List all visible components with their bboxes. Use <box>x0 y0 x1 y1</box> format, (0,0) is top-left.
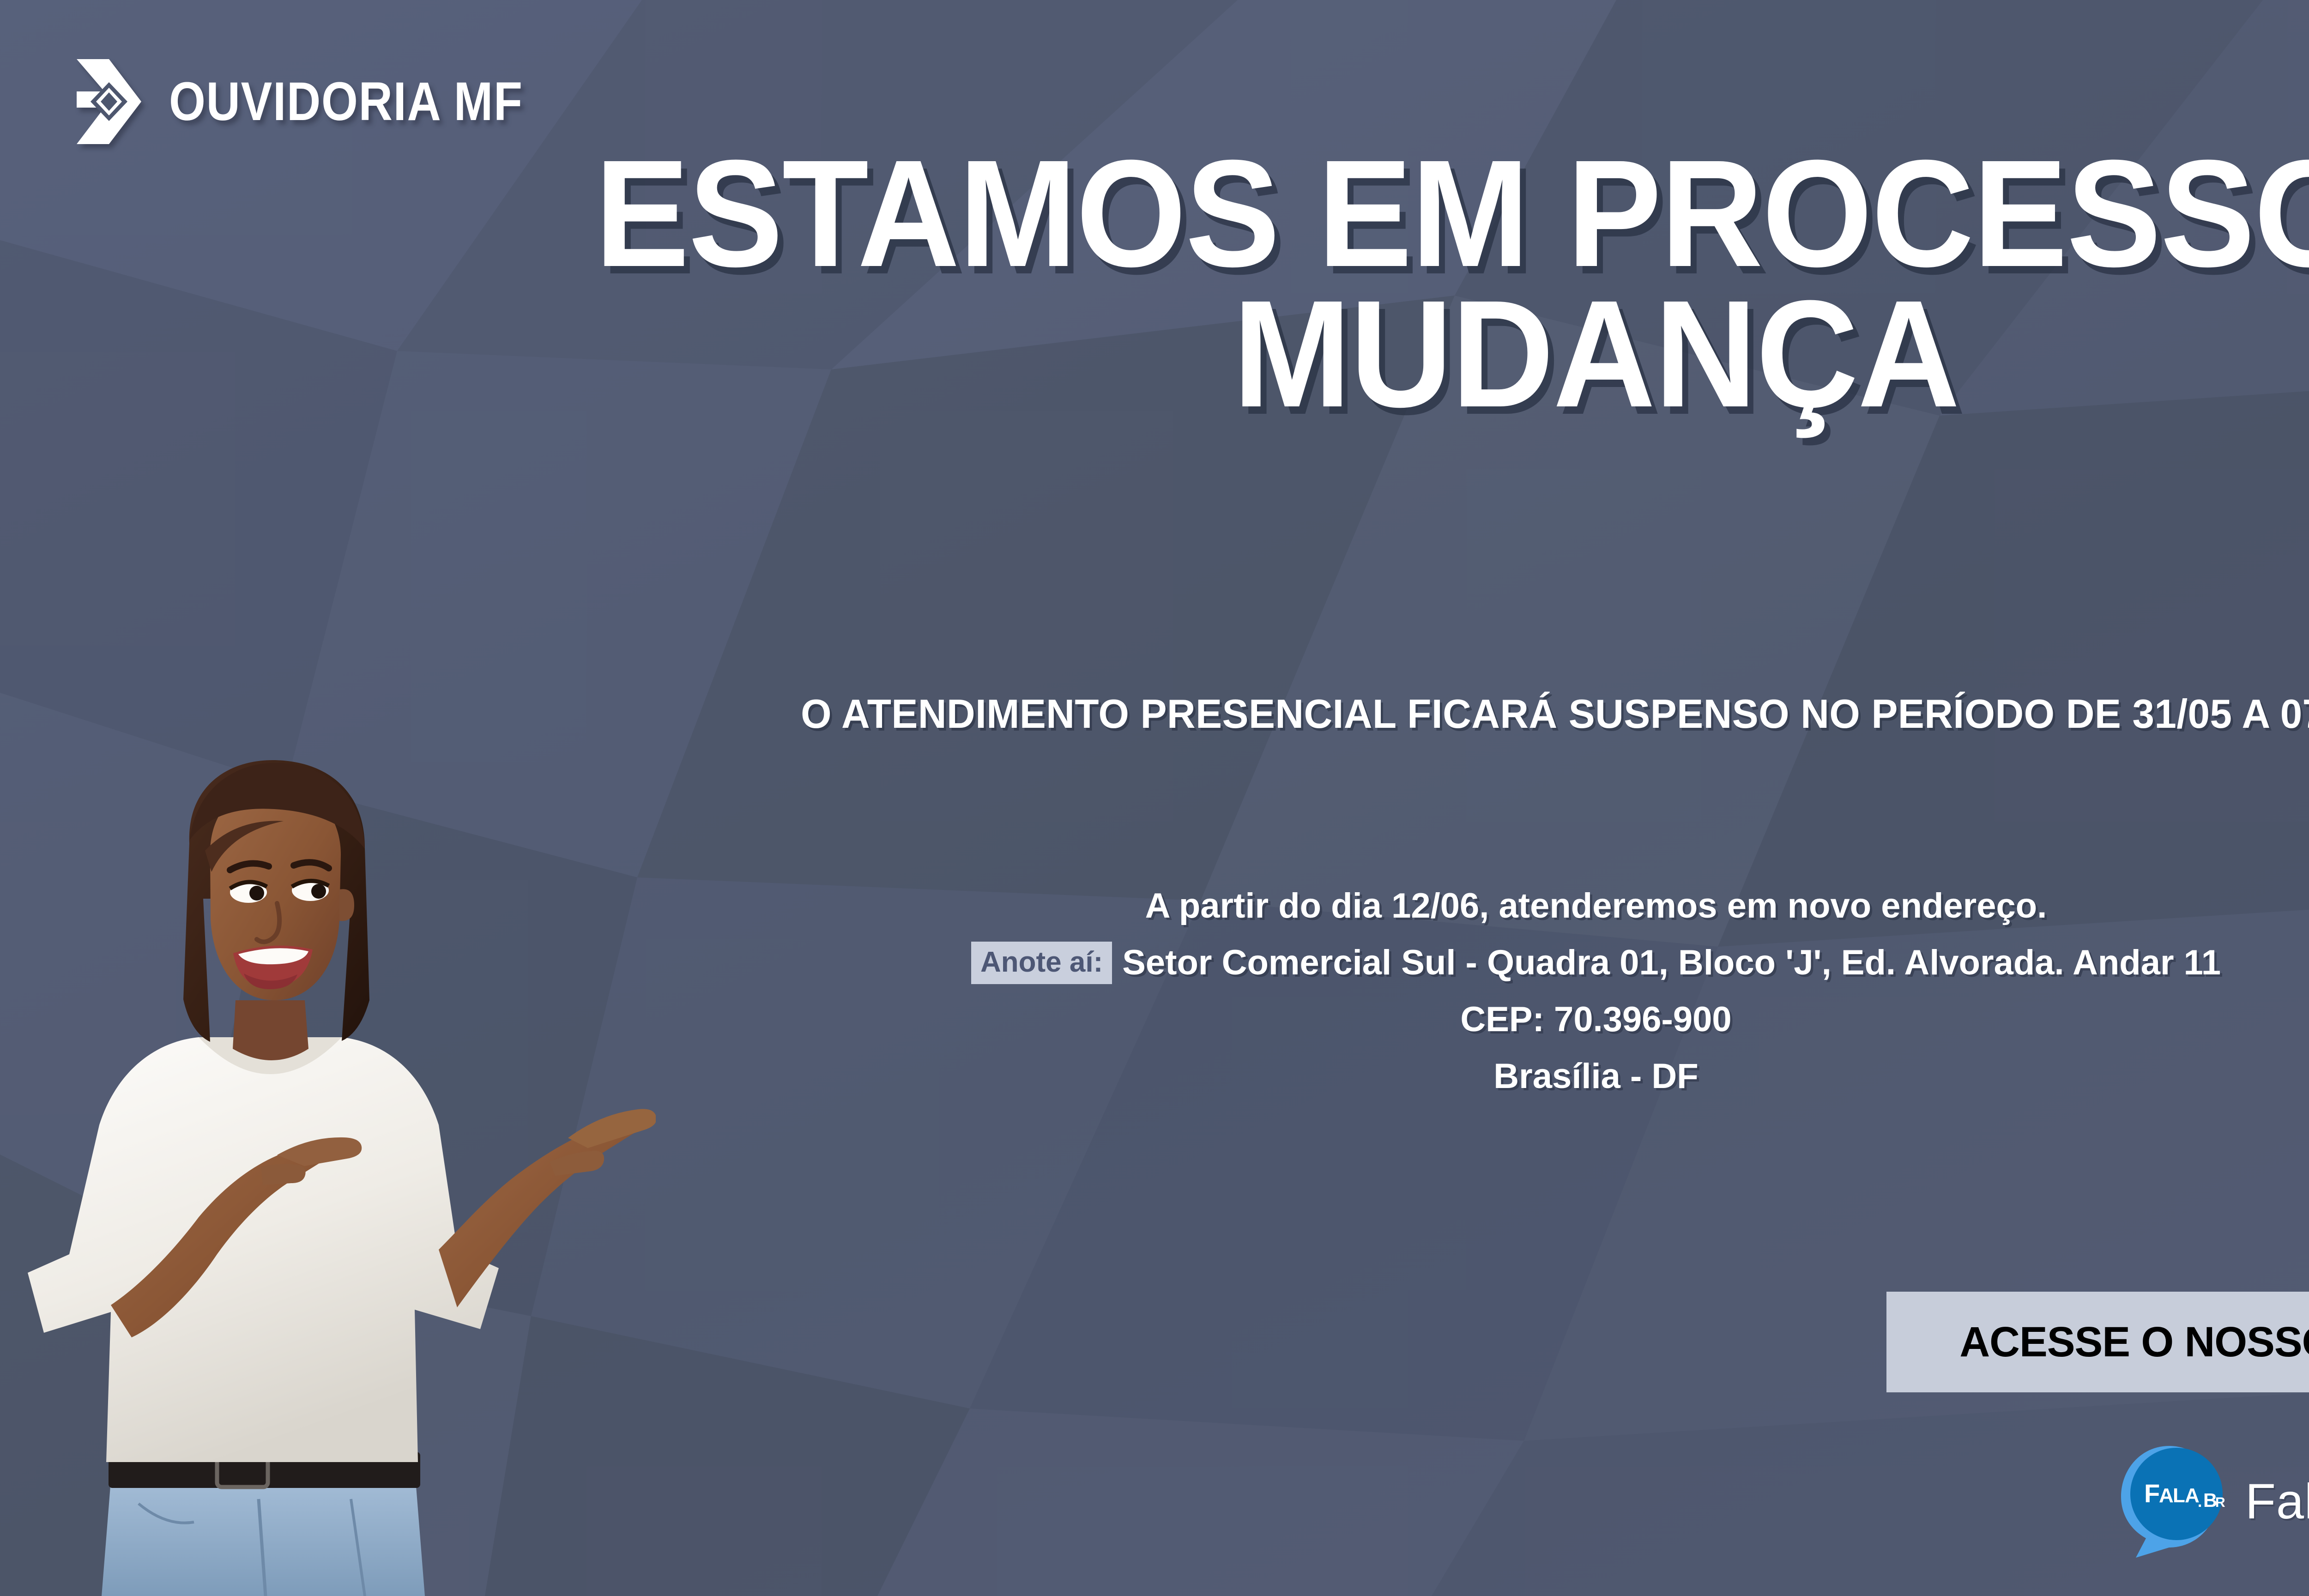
new-address-block: A partir do dia 12/06, atenderemos em no… <box>591 877 2309 1105</box>
page-title: ESTAMOS EM PROCESSO DE MUDANÇA <box>0 143 2309 423</box>
svg-text:A: A <box>2159 1484 2173 1507</box>
ouvidoria-mf-logo: OUVIDORIA MF <box>65 55 580 148</box>
promo-banner: OUVIDORIA MF ESTAMOS EM PROCESSO DE MUDA… <box>0 0 2309 1596</box>
suspension-notice: O ATENDIMENTO PRESENCIAL FICARÁ SUSPENSO… <box>48 690 2309 738</box>
anote-ai-badge: Anote aí: <box>971 942 1112 984</box>
address-intro: A partir do dia 12/06, atenderemos em no… <box>591 877 2309 934</box>
svg-text:R: R <box>2215 1495 2225 1510</box>
channel-cta-label: ACESSE O NOSSO CANAL DE ATENDIMENTO: <box>1886 1318 2309 1366</box>
falabr-url[interactable]: Fala.br – falabr.cgu.gov.br <box>2245 1472 2309 1530</box>
pointing-woman-photo <box>0 760 656 1596</box>
headline-line-1: ESTAMOS EM PROCESSO DE <box>254 143 2309 284</box>
svg-text:A: A <box>2185 1484 2199 1507</box>
svg-text:L: L <box>2173 1484 2185 1507</box>
ouvidoria-mf-chevron-diamond-mark <box>65 55 148 148</box>
logo-wordmark: OUVIDORIA MF <box>169 74 523 129</box>
svg-text:.: . <box>2198 1493 2202 1511</box>
falabr-speech-bubble-icon: F A L A . B R <box>2117 1443 2226 1559</box>
address-city: Brasília - DF <box>591 1048 2309 1105</box>
svg-text:F: F <box>2144 1479 2159 1508</box>
address-street-row: Anote aí: Setor Comercial Sul - Quadra 0… <box>591 934 2309 991</box>
headline-line-2: MUDANÇA <box>254 284 2309 424</box>
channel-cta-banner: ACESSE O NOSSO CANAL DE ATENDIMENTO: <box>1886 1292 2309 1392</box>
address-cep: CEP: 70.396-900 <box>591 991 2309 1048</box>
address-street: Setor Comercial Sul - Quadra 01, Bloco '… <box>1122 934 2221 991</box>
falabr-link-row[interactable]: F A L A . B R Fala.br – falabr.cgu.gov.b… <box>2117 1443 2309 1559</box>
